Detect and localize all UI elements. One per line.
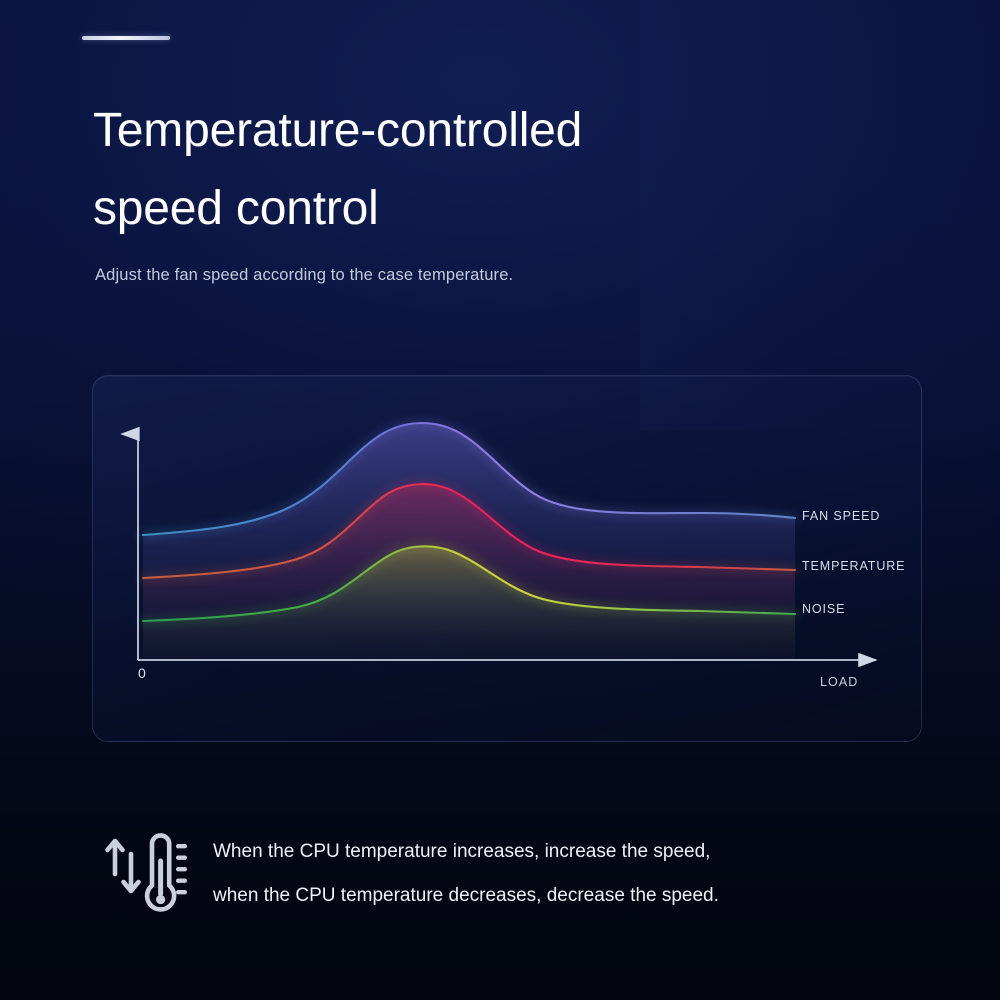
legend-item-temperature: TEMPERATURE bbox=[802, 559, 905, 573]
axis-origin-label: 0 bbox=[138, 665, 146, 681]
footer-line-2: when the CPU temperature decreases, decr… bbox=[213, 885, 719, 907]
legend-item-fan-speed: FAN SPEED bbox=[802, 509, 880, 523]
legend-item-noise: NOISE bbox=[802, 602, 845, 616]
footer-line-1: When the CPU temperature increases, incr… bbox=[213, 841, 719, 863]
page-background: Temperature-controlled speed control Adj… bbox=[0, 0, 1000, 1000]
thermometer-updown-icon bbox=[103, 828, 189, 920]
footer-note: When the CPU temperature increases, incr… bbox=[103, 828, 719, 920]
x-axis-label: LOAD bbox=[820, 675, 858, 689]
